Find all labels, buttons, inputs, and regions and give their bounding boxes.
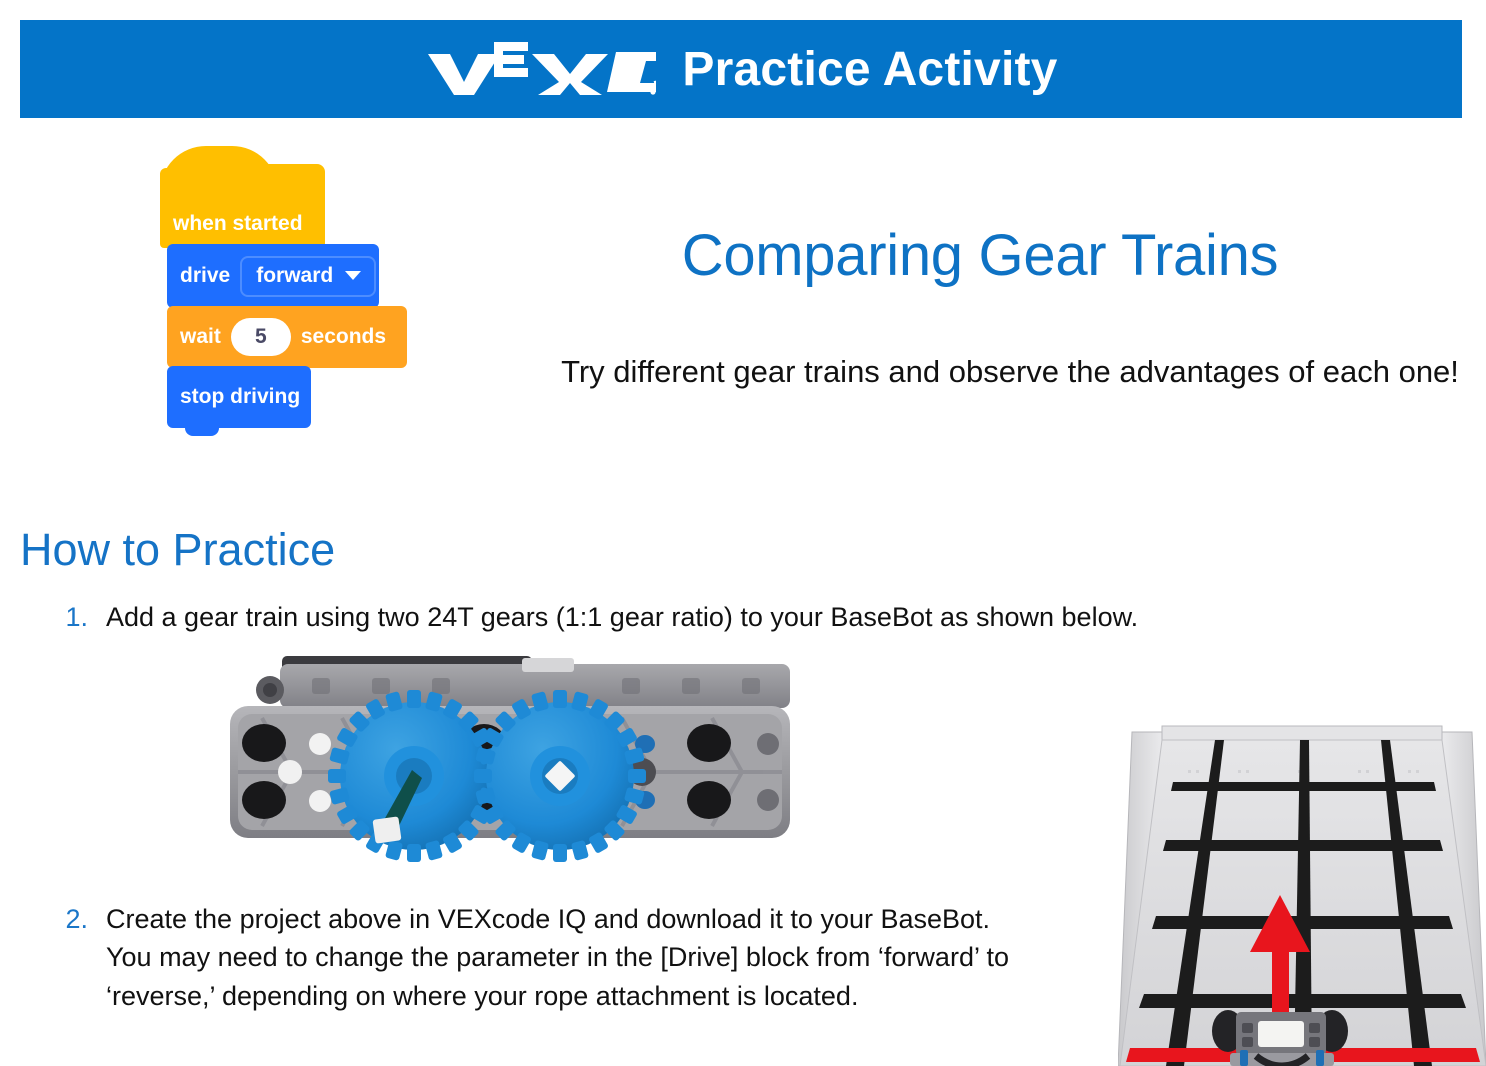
- list-item: 2. Create the project above in VEXcode I…: [62, 900, 1042, 1015]
- vexcode-block-stack: when started drive forward wait 5 second…: [160, 168, 420, 468]
- practice-activity-page: Practice Activity when started drive for…: [0, 0, 1486, 1066]
- block-when-started-label: when started: [173, 212, 303, 236]
- vex-iq-field-photo: [1118, 690, 1486, 1066]
- basebot-robot: [1212, 1010, 1348, 1066]
- block-drive-label: drive: [180, 264, 230, 288]
- block-notch: [185, 422, 219, 436]
- step-text: Add a gear train using two 24T gears (1:…: [106, 598, 1138, 636]
- page-subtitle: Try different gear trains and observe th…: [560, 352, 1460, 393]
- gear-train-photo: [222, 648, 800, 864]
- drive-direction-dropdown[interactable]: forward: [240, 256, 376, 297]
- wait-seconds-input[interactable]: 5: [231, 318, 291, 356]
- banner-title: Practice Activity: [682, 42, 1057, 97]
- section-heading-how-to-practice: How to Practice: [20, 524, 335, 576]
- block-stop-driving[interactable]: stop driving: [167, 366, 311, 428]
- block-wait[interactable]: wait 5 seconds: [167, 306, 407, 368]
- page-title: Comparing Gear Trains: [500, 222, 1460, 289]
- header-banner: Practice Activity: [20, 20, 1462, 118]
- step-number: 2.: [62, 900, 88, 938]
- step-text: Create the project above in VEXcode IQ a…: [106, 900, 1042, 1015]
- block-when-started[interactable]: when started: [160, 168, 325, 248]
- block-drive[interactable]: drive forward: [167, 244, 379, 308]
- block-wait-unit: seconds: [301, 325, 386, 349]
- step-number: 1.: [62, 598, 88, 636]
- block-stop-driving-label: stop driving: [180, 385, 300, 409]
- block-wait-label: wait: [180, 325, 221, 349]
- drive-direction-value: forward: [256, 264, 333, 288]
- chevron-down-icon: [345, 271, 361, 280]
- vex-iq-logo-icon: [424, 40, 656, 98]
- list-item: 1. Add a gear train using two 24T gears …: [62, 598, 1382, 636]
